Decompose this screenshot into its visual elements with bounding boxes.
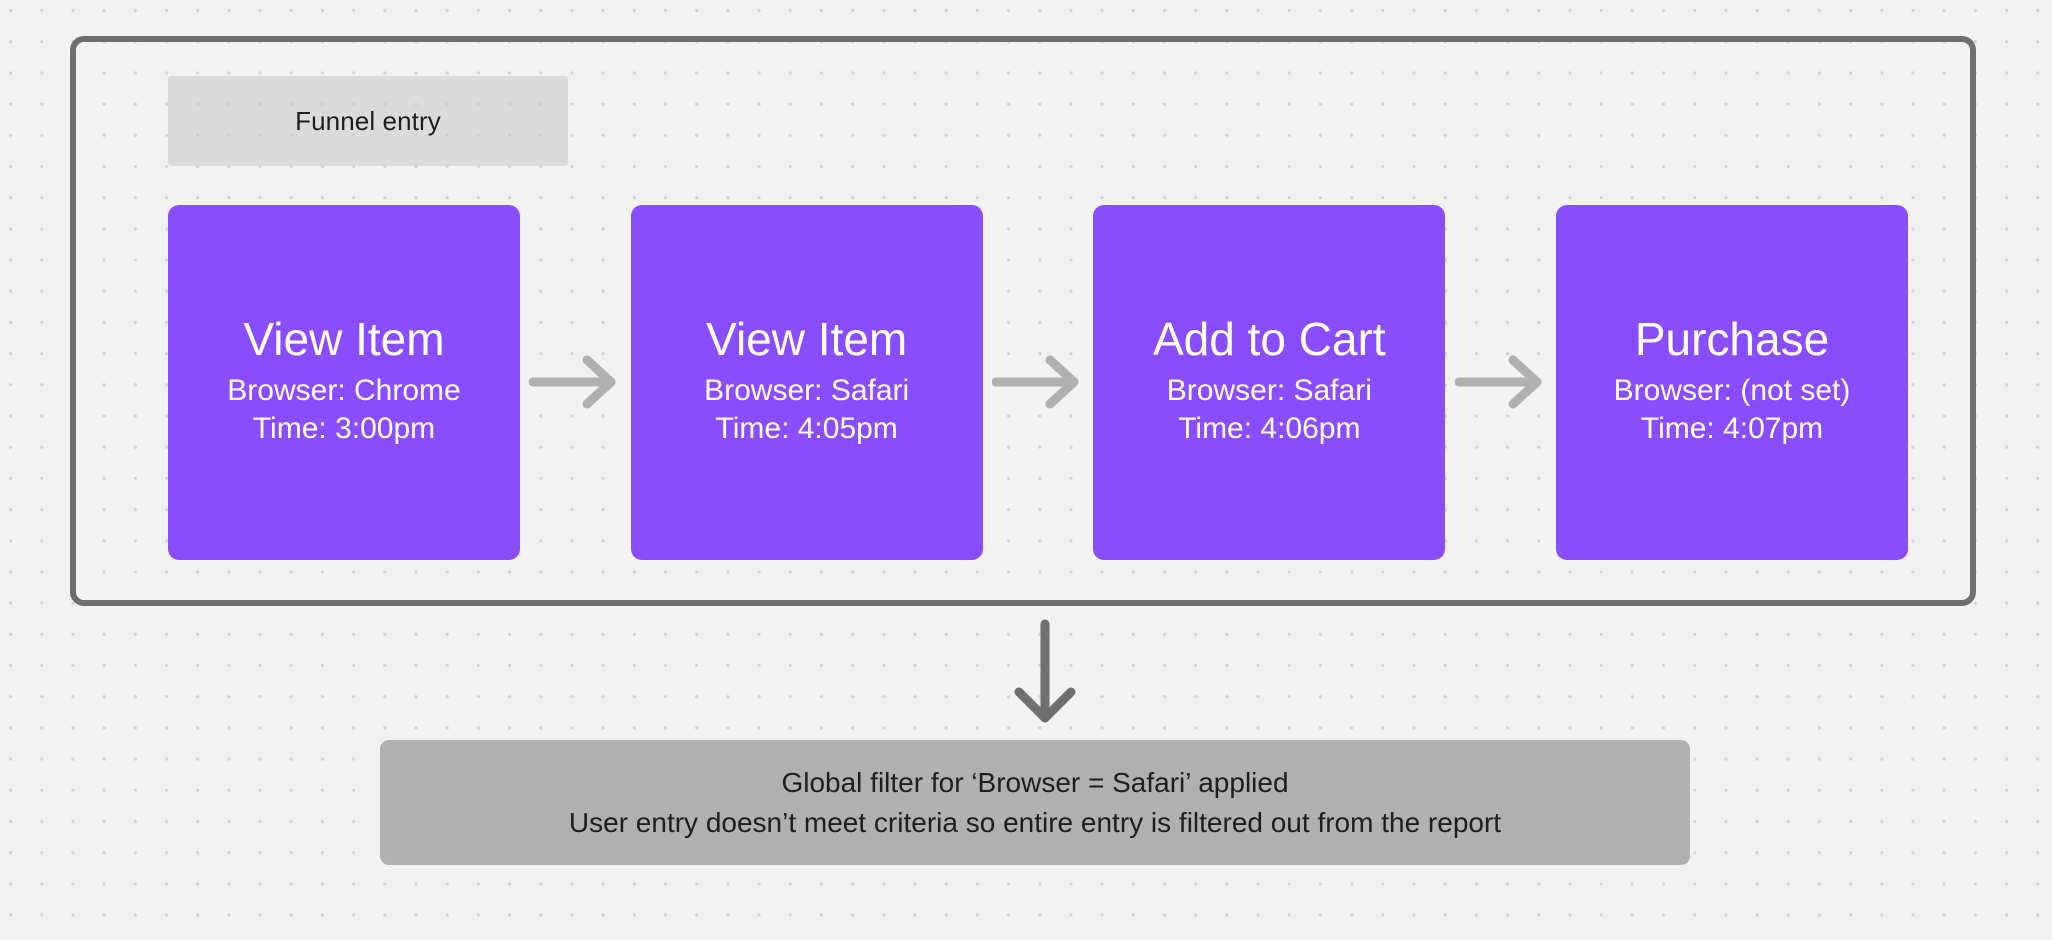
funnel-step-time: Time: 4:05pm	[716, 410, 898, 448]
funnel-step-card[interactable]: View Item Browser: Chrome Time: 3:00pm	[168, 205, 520, 560]
funnel-entry-badge: Funnel entry	[168, 76, 568, 166]
arrow-right-icon	[983, 202, 1094, 562]
filter-note-line-2: User entry doesn’t meet criteria so enti…	[569, 803, 1501, 842]
funnel-steps-row: View Item Browser: Chrome Time: 3:00pm V…	[168, 202, 1908, 562]
arrow-down-icon	[1000, 618, 1090, 728]
funnel-step-card[interactable]: View Item Browser: Safari Time: 4:05pm	[631, 205, 983, 560]
funnel-step-browser: Browser: Safari	[1167, 372, 1372, 410]
funnel-step-time: Time: 3:00pm	[253, 410, 435, 448]
arrow-right-icon	[520, 202, 631, 562]
filter-note-line-1: Global filter for ‘Browser = Safari’ app…	[781, 763, 1288, 802]
funnel-entry-label: Funnel entry	[295, 106, 441, 137]
funnel-step-title: Add to Cart	[1153, 315, 1386, 363]
arrow-right-icon	[1445, 202, 1556, 562]
funnel-entry-container: Funnel entry View Item Browser: Chrome T…	[70, 36, 1976, 606]
funnel-step-title: View Item	[243, 315, 444, 363]
funnel-step-title: Purchase	[1635, 315, 1829, 363]
funnel-step-card[interactable]: Add to Cart Browser: Safari Time: 4:06pm	[1093, 205, 1445, 560]
funnel-step-card[interactable]: Purchase Browser: (not set) Time: 4:07pm	[1556, 205, 1908, 560]
funnel-step-time: Time: 4:07pm	[1641, 410, 1823, 448]
global-filter-note: Global filter for ‘Browser = Safari’ app…	[380, 740, 1690, 865]
funnel-step-time: Time: 4:06pm	[1178, 410, 1360, 448]
funnel-step-browser: Browser: Chrome	[227, 372, 460, 410]
funnel-step-browser: Browser: (not set)	[1614, 372, 1851, 410]
funnel-step-browser: Browser: Safari	[704, 372, 909, 410]
funnel-step-title: View Item	[706, 315, 907, 363]
